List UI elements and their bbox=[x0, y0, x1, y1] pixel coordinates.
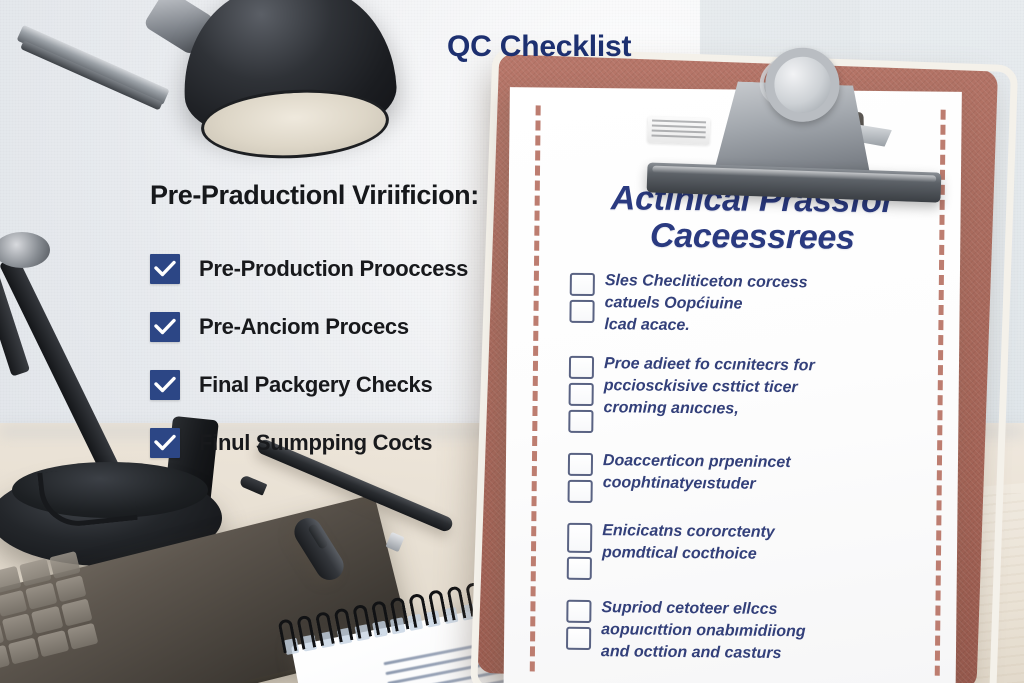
document-line: Sles Checliticeton corcess bbox=[605, 270, 808, 294]
paper-dashed-border-left bbox=[530, 105, 541, 671]
document-checkbox-icon[interactable] bbox=[568, 453, 593, 476]
document-checkbox-stack[interactable] bbox=[569, 270, 595, 336]
checklist-item-label: Pre-Production Prooccess bbox=[199, 256, 468, 282]
document-line: coophtinatyeıstuder bbox=[603, 472, 791, 496]
document-checkbox-stack[interactable] bbox=[568, 353, 594, 433]
checklist-item-label: Final Packgery Checks bbox=[199, 372, 432, 398]
document-checkbox-icon[interactable] bbox=[566, 627, 591, 650]
checkbox-checked-icon[interactable] bbox=[150, 312, 180, 342]
document-checkbox-icon[interactable] bbox=[566, 600, 591, 623]
document-line: pomdtical cocthoice bbox=[602, 542, 775, 566]
checkbox-checked-icon[interactable] bbox=[150, 254, 180, 284]
checklist-item-label: Finul Suımpping Cocts bbox=[199, 430, 432, 456]
checklist-item-label: Pre-Anciom Procecs bbox=[199, 314, 409, 340]
document-checklist-group[interactable]: Supriod cetoteer ellccs aopuıcıttion ona… bbox=[566, 597, 937, 667]
overlay-checklist: Pre-Production Prooccess Pre-Anciom Proc… bbox=[150, 240, 468, 472]
document-checkbox-stack[interactable] bbox=[566, 597, 592, 663]
document-line: catuels Oopćiuine bbox=[605, 292, 808, 316]
document-checkbox-stack[interactable] bbox=[567, 520, 593, 580]
document-group-text: Supriod cetoteer ellccs aopuıcıttion ona… bbox=[601, 597, 806, 665]
clipboard: Actinical Prassfor Caceessrees Sles Chec… bbox=[476, 53, 1018, 683]
document-line: aopuıcıttion onabımidiiong bbox=[601, 619, 806, 643]
document-checkbox-icon[interactable] bbox=[569, 383, 594, 406]
document-line: lcad acace. bbox=[604, 314, 807, 338]
checklist-item[interactable]: Final Packgery Checks bbox=[150, 356, 468, 414]
document-title-line-2: Caceessrees bbox=[582, 217, 922, 258]
document-checklist-group[interactable]: Sles Checliticeton corcess catuels Oopći… bbox=[569, 270, 940, 340]
document-checkbox-icon[interactable] bbox=[568, 410, 593, 433]
document-group-text: Doaccerticon prpenincet coophtinatyeıstu… bbox=[603, 450, 791, 505]
checklist-item[interactable]: Pre-Production Prooccess bbox=[150, 240, 468, 298]
checkbox-checked-icon[interactable] bbox=[150, 428, 180, 458]
checkbox-checked-icon[interactable] bbox=[150, 370, 180, 400]
document-line: Proe adieet fo ccınitecrs for bbox=[604, 353, 815, 377]
document-checkbox-icon[interactable] bbox=[569, 300, 594, 323]
document-checkbox-icon[interactable] bbox=[567, 523, 592, 553]
document-checklist-group[interactable]: Doaccerticon prpenincet coophtinatyeıstu… bbox=[568, 450, 939, 507]
scene-root: Actinical Prassfor Caceessrees Sles Chec… bbox=[0, 0, 1024, 683]
document-line: Enicicatns cororctenty bbox=[602, 520, 775, 544]
document-line: Supriod cetoteer ellccs bbox=[601, 597, 806, 621]
page-title: QC Checklist bbox=[447, 30, 631, 64]
document-checklist: Sles Checliticeton corcess catuels Oopći… bbox=[566, 270, 940, 683]
document-checkbox-icon[interactable] bbox=[569, 356, 594, 379]
document-checkbox-icon[interactable] bbox=[570, 273, 595, 296]
document-checklist-group[interactable]: Proe adieet fo ccınitecrs for pcciosckis… bbox=[568, 353, 939, 437]
document-checkbox-stack[interactable] bbox=[568, 450, 594, 503]
document-checkbox-icon[interactable] bbox=[568, 480, 593, 503]
document-line: pcciosckisive csttict ticer bbox=[604, 375, 815, 399]
document-checkbox-icon[interactable] bbox=[567, 557, 592, 580]
document-group-text: Proe adieet fo ccınitecrs for pcciosckis… bbox=[603, 353, 815, 435]
document-group-text: Sles Checliticeton corcess catuels Oopći… bbox=[604, 270, 807, 338]
document-line: and octtion and casturs bbox=[601, 642, 806, 666]
document-line: Doaccerticon prpenincet bbox=[603, 450, 791, 474]
document-checklist-group[interactable]: Enicicatns cororctenty pomdtical cocthoi… bbox=[567, 520, 938, 584]
document-line: croming anıccıes, bbox=[603, 398, 814, 422]
section-heading: Pre-Praductionl Viriificion: bbox=[150, 180, 479, 211]
document-group-text: Enicicatns cororctenty pomdtical cocthoi… bbox=[602, 520, 775, 582]
clipboard-sticker bbox=[647, 116, 710, 144]
checklist-item[interactable]: Pre-Anciom Procecs bbox=[150, 298, 468, 356]
checklist-item[interactable]: Finul Suımpping Cocts bbox=[150, 414, 468, 472]
